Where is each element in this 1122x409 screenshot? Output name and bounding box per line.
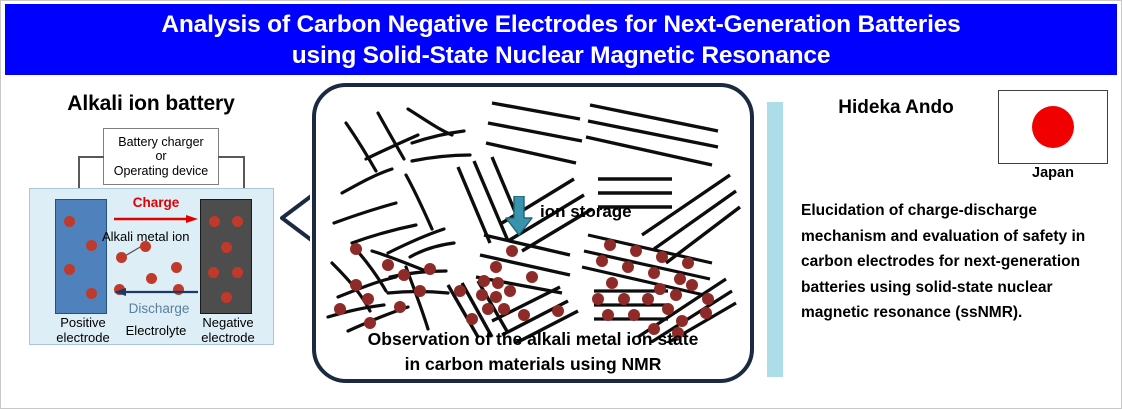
ion-dot [221,292,232,303]
battery-charger-box: Battery charger or Operating device [103,128,219,185]
carbon-structure-callout: ion storage [304,83,754,383]
charger-line-2: or [155,149,166,164]
ion-dot [208,267,219,278]
discharge-label: Discharge [114,301,204,316]
poster-title-bar: Analysis of Carbon Negative Electrodes f… [5,4,1117,75]
ion-dot [232,216,243,227]
ion-dot [140,241,151,252]
ion-dot [232,267,243,278]
discharge-arrow-icon [114,288,198,296]
ion-dot [116,252,127,263]
charger-line-1: Battery charger [118,135,203,150]
charger-line-3: Operating device [114,164,209,179]
flag-red-disc [1032,106,1074,148]
negative-electrode-label-line-2: electrode [193,330,263,345]
electrolyte-label: Electrolyte [120,323,192,338]
poster-title-line-1: Analysis of Carbon Negative Electrodes f… [161,9,960,40]
positive-electrode-block [55,199,107,314]
ion-dot [171,262,182,273]
positive-electrode-label-line-1: Positive [48,315,118,330]
ion-dot [146,273,157,284]
charger-wire-left-horizontal [78,156,104,158]
positive-electrode-label-line-2: electrode [48,330,118,345]
ion-dot [221,242,232,253]
charge-arrow-icon [114,215,198,223]
vertical-divider-bar [767,102,783,377]
charger-wire-left-vertical [78,156,80,191]
poster-title-line-2: using Solid-State Nuclear Magnetic Reson… [292,40,831,71]
callout-caption: Observation of the alkali metal ion stat… [312,327,754,377]
battery-panel-heading: Alkali ion battery [1,92,301,116]
ion-dot [86,240,97,251]
alkali-ion-battery-panel: Alkali ion battery Battery charger or Op… [1,79,301,369]
negative-electrode-label: Negative electrode [193,315,263,345]
ion-storage-label: ion storage [540,202,632,222]
ion-dot [209,216,220,227]
ion-storage-down-arrow-icon [504,196,534,236]
country-label: Japan [998,165,1108,181]
japan-flag-icon [998,90,1108,164]
ion-dot [86,288,97,299]
ion-dot [64,216,75,227]
callout-caption-line-2: in carbon materials using NMR [312,352,754,377]
positive-electrode-label: Positive electrode [48,315,118,345]
charger-wire-right-horizontal [218,156,245,158]
charger-wire-right-vertical [243,156,245,191]
poster-root: Analysis of Carbon Negative Electrodes f… [0,0,1122,409]
ion-dot [64,264,75,275]
charge-label: Charge [116,195,196,210]
research-summary-text: Elucidation of charge-discharge mechanis… [801,198,1119,326]
negative-electrode-block [200,199,252,314]
callout-caption-line-1: Observation of the alkali metal ion stat… [312,327,754,352]
negative-electrode-label-line-1: Negative [193,315,263,330]
battery-cell: Charge Alkali metal ion Discharge [29,188,274,345]
author-name: Hideka Ando [801,97,991,119]
